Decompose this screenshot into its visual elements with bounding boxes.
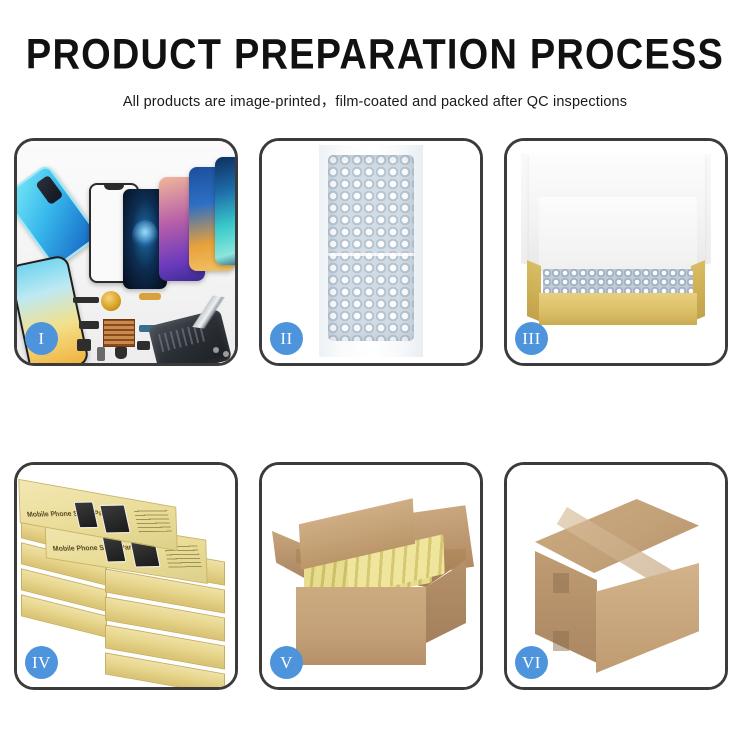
part-small-cable-b <box>77 339 91 351</box>
part-flex-strip <box>73 297 99 303</box>
part-gold-connector <box>139 293 161 300</box>
page-header: PRODUCT PREPARATION PROCESS All products… <box>0 0 750 111</box>
part-screw-a <box>213 347 219 353</box>
part-button <box>97 347 105 361</box>
step-badge-1: I <box>25 322 58 355</box>
carton-seam-notch-bottom <box>553 631 569 651</box>
box-spec-lines-1 <box>134 509 172 532</box>
step-badge-3: III <box>515 322 548 355</box>
step-badge-6: VI <box>515 646 548 679</box>
step-badge-4: IV <box>25 646 58 679</box>
part-small-cable-a <box>79 321 99 329</box>
carton-front-face <box>296 587 426 665</box>
box-label-text-2: Mobile Phone Spare Parts <box>52 544 138 553</box>
part-ic-chip <box>137 341 150 350</box>
part-copper-coil <box>101 291 121 311</box>
process-step-panel-6: VI <box>504 462 728 690</box>
foam-sheet <box>539 197 697 269</box>
part-speaker <box>115 347 127 359</box>
tool-tweezers <box>183 292 233 332</box>
process-steps-grid: I II III <box>14 138 736 690</box>
carton-seam-notch-top <box>553 573 569 593</box>
box-label-text-1: Mobile Phone Spare Parts <box>26 510 112 519</box>
process-step-panel-2: II <box>259 138 483 366</box>
process-step-panel-4: Mobile Phone Spare Parts Mobile Phone Sp… <box>14 462 238 690</box>
phone-cyan-display <box>215 157 235 265</box>
bubble-wrap-pad <box>328 155 414 341</box>
page-subtitle: All products are image-printed，film-coat… <box>0 90 750 111</box>
step-badge-2: II <box>270 322 303 355</box>
box-screen-image-1a <box>73 501 98 528</box>
page-title: PRODUCT PREPARATION PROCESS <box>0 34 750 79</box>
process-step-panel-1: I <box>14 138 238 366</box>
part-chip-grid <box>103 319 135 347</box>
part-screw-b <box>223 351 229 357</box>
step-badge-5: V <box>270 646 303 679</box>
box-screen-image-1b <box>99 504 131 533</box>
process-step-panel-3: III <box>504 138 728 366</box>
process-step-panel-5: V <box>259 462 483 690</box>
kraft-box-front <box>539 293 697 325</box>
bubble-wrap-seam <box>328 253 414 256</box>
